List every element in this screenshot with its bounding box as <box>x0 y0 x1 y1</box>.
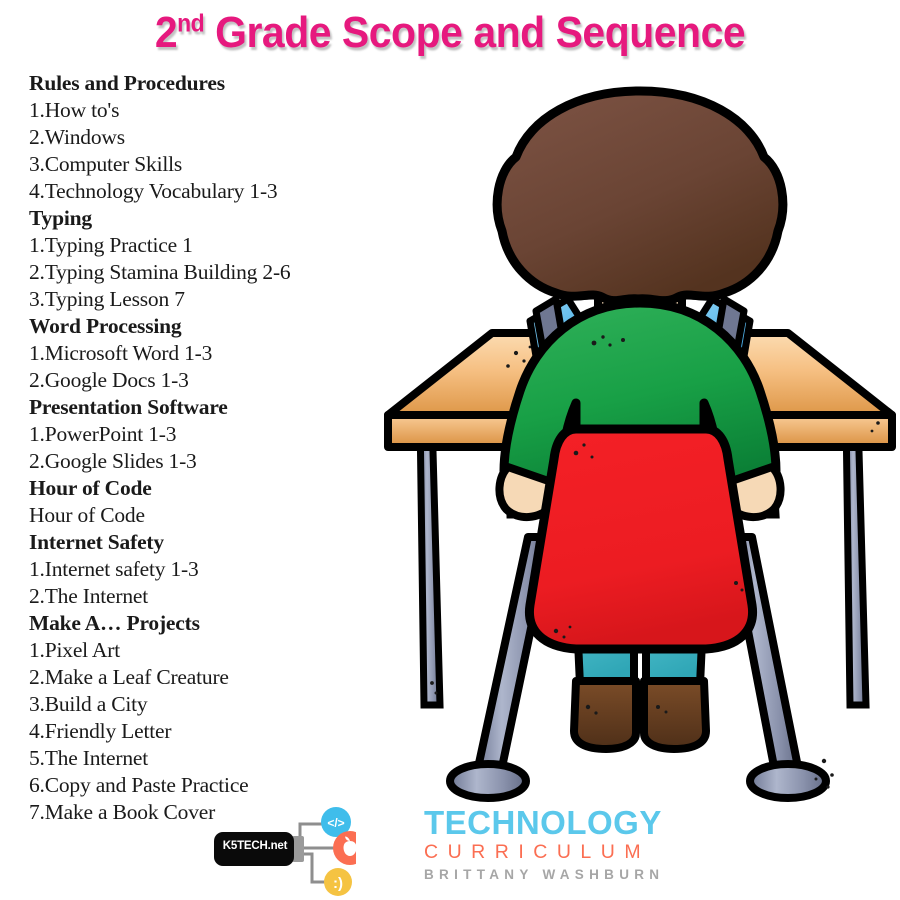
list-item: 3.Build a City <box>29 691 429 718</box>
chair-foot-left <box>450 764 526 798</box>
list-item-number: 1. <box>29 422 45 446</box>
title-rest: Grade Scope and Sequence <box>204 8 745 57</box>
title-ordinal-suffix: nd <box>177 10 204 37</box>
list-item-label: Internet safety 1-3 <box>45 557 199 581</box>
list-item: 4.Friendly Letter <box>29 718 429 745</box>
list-item-number: 1. <box>29 341 45 365</box>
list-item-label: Make a Leaf Creature <box>45 665 229 689</box>
list-item-label: Make a Book Cover <box>45 800 215 824</box>
list-item-number: 1. <box>29 98 45 122</box>
hair <box>497 91 783 301</box>
child-group <box>497 91 783 749</box>
page-title: 2nd Grade Scope and Sequence <box>32 8 869 58</box>
section-heading: Word Processing <box>29 313 429 340</box>
list-item-label: Typing Stamina Building 2-6 <box>45 260 291 284</box>
list-item-number: 1. <box>29 638 45 662</box>
list-item: 1.PowerPoint 1-3 <box>29 421 429 448</box>
list-item: 2.Google Docs 1-3 <box>29 367 429 394</box>
desk-leg-right <box>846 415 866 705</box>
section-item-list: 1.PowerPoint 1-32.Google Slides 1-3 <box>29 421 429 475</box>
list-item-label: Windows <box>45 125 125 149</box>
list-item-number: 3. <box>29 152 45 176</box>
list-item-label: Google Docs 1-3 <box>45 368 189 392</box>
list-item: 3.Computer Skills <box>29 151 429 178</box>
list-item: 4.Technology Vocabulary 1-3 <box>29 178 429 205</box>
list-item-label: How to's <box>45 98 120 122</box>
k5tech-logo-mark[interactable]: </> :) K5TECH.net <box>196 800 356 896</box>
title-lead-number: 2 <box>155 8 177 57</box>
list-item-label: Copy and Paste Practice <box>45 773 249 797</box>
list-item: 1.How to's <box>29 97 429 124</box>
brand-author: BRITTANY WASHBURN <box>424 865 724 884</box>
student-at-desk-illustration <box>380 85 900 805</box>
list-item: 2.Make a Leaf Creature <box>29 664 429 691</box>
list-item-label: Technology Vocabulary 1-3 <box>45 179 278 203</box>
list-item-number: 6. <box>29 773 45 797</box>
list-item-label: Typing Lesson 7 <box>45 287 185 311</box>
brand-technology: TECHNOLOGY <box>424 806 724 840</box>
section-heading: Internet Safety <box>29 529 429 556</box>
list-item: 5.The Internet <box>29 745 429 772</box>
list-item-number: 1. <box>29 233 45 257</box>
list-item-label: The Internet <box>45 746 148 770</box>
list-item: Hour of Code <box>29 502 429 529</box>
list-item: 1.Typing Practice 1 <box>29 232 429 259</box>
curriculum-outline: Rules and Procedures1.How to's2.Windows3… <box>29 70 429 826</box>
list-item: 6.Copy and Paste Practice <box>29 772 429 799</box>
list-item: 2.Windows <box>29 124 429 151</box>
list-item-number: 5. <box>29 746 45 770</box>
section-item-list: 1.Microsoft Word 1-32.Google Docs 1-3 <box>29 340 429 394</box>
k5tech-badge-label: K5TECH.net <box>214 840 296 852</box>
list-item-label: Pixel Art <box>45 638 120 662</box>
list-item-number: 4. <box>29 179 45 203</box>
desk-leg-left <box>420 415 440 705</box>
brand-curriculum: CURRICULUM <box>424 840 724 865</box>
list-item: 3.Typing Lesson 7 <box>29 286 429 313</box>
section-heading: Rules and Procedures <box>29 70 429 97</box>
brand-lockup: TECHNOLOGY CURRICULUM BRITTANY WASHBURN <box>424 806 724 884</box>
section-heading: Typing <box>29 205 429 232</box>
list-item: 2.Google Slides 1-3 <box>29 448 429 475</box>
smiley-icon-glyph: :) <box>333 875 343 892</box>
shoe-right <box>644 681 706 749</box>
list-item: 1.Internet safety 1-3 <box>29 556 429 583</box>
list-item: 1.Pixel Art <box>29 637 429 664</box>
list-item-number: 2. <box>29 125 45 149</box>
section-heading: Presentation Software <box>29 394 429 421</box>
section-item-list: 1.Typing Practice 12.Typing Stamina Buil… <box>29 232 429 313</box>
chair-back <box>529 429 752 649</box>
list-item-number: 2. <box>29 584 45 608</box>
list-item: 2.Typing Stamina Building 2-6 <box>29 259 429 286</box>
list-item-label: Microsoft Word 1-3 <box>45 341 212 365</box>
list-item-number: 4. <box>29 719 45 743</box>
code-icon-glyph: </> <box>327 816 344 830</box>
list-item-label: Friendly Letter <box>45 719 172 743</box>
section-heading: Hour of Code <box>29 475 429 502</box>
list-item-label: PowerPoint 1-3 <box>45 422 177 446</box>
list-item-label: The Internet <box>45 584 148 608</box>
poster-canvas: 2nd Grade Scope and Sequence Rules and P… <box>0 0 900 900</box>
list-item: 2.The Internet <box>29 583 429 610</box>
list-item-number: 2. <box>29 449 45 473</box>
chair-foot-right <box>750 764 826 798</box>
list-item-number: 7. <box>29 800 45 824</box>
list-item-number: 2. <box>29 368 45 392</box>
list-item-number: 3. <box>29 287 45 311</box>
list-item-number: 1. <box>29 557 45 581</box>
list-item-label: Build a City <box>45 692 148 716</box>
list-item-label: Google Slides 1-3 <box>45 449 197 473</box>
list-item-number: 3. <box>29 692 45 716</box>
list-item-number: 2. <box>29 665 45 689</box>
section-item-list: 1.How to's2.Windows3.Computer Skills4.Te… <box>29 97 429 205</box>
section-heading: Make A… Projects <box>29 610 429 637</box>
section-item-list: 1.Internet safety 1-32.The Internet <box>29 556 429 610</box>
list-item-label: Typing Practice 1 <box>45 233 193 257</box>
section-item-list: 1.Pixel Art2.Make a Leaf Creature3.Build… <box>29 637 429 826</box>
shoe-left <box>574 681 636 749</box>
list-item: 1.Microsoft Word 1-3 <box>29 340 429 367</box>
list-item-number: 2. <box>29 260 45 284</box>
list-item-label: Computer Skills <box>45 152 182 176</box>
